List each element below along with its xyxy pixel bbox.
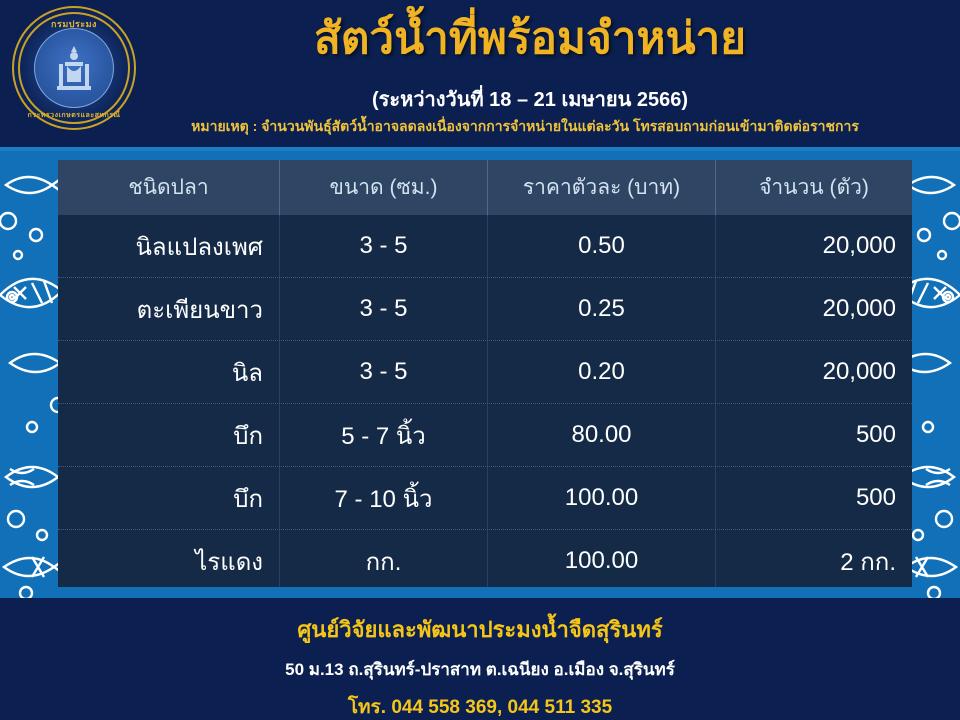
column-header-size: ขนาด (ซม.) (279, 160, 487, 215)
column-header-species: ชนิดปลา (58, 160, 279, 215)
column-header-price: ราคาตัวละ (บาท) (487, 160, 715, 215)
cell-species: นิล (58, 341, 279, 403)
cell-price: 100.00 (487, 467, 715, 529)
footer-organization-name: ศูนย์วิจัยและพัฒนาประมงน้ำจืดสุรินทร์ (0, 612, 960, 647)
cell-species: ไรแดง (58, 530, 279, 587)
cell-size: 7 - 10 นิ้ว (279, 467, 487, 529)
header-band: กรมประมง กระทรวงเกษตรและสหกรณ์ สัตว์น้ำท… (0, 0, 960, 147)
cell-quantity: 20,000 (715, 341, 912, 403)
footer-band: ศูนย์วิจัยและพัฒนาประมงน้ำจืดสุรินทร์ 50… (0, 598, 960, 720)
cell-price: 0.25 (487, 278, 715, 340)
poster-root: กรมประมง กระทรวงเกษตรและสหกรณ์ สัตว์น้ำท… (0, 0, 960, 720)
page-subtitle-date-range: (ระหว่างวันที่ 18 – 21 เมษายน 2566) (140, 83, 920, 115)
table-row: นิลแปลงเพศ 3 - 5 0.50 20,000 (58, 215, 912, 277)
logo-figure-icon (51, 42, 97, 94)
cell-quantity: 500 (715, 467, 912, 529)
cell-price: 0.50 (487, 215, 715, 277)
page-note: หมายเหตุ : จำนวนพันธุ์สัตว์น้ำอาจลดลงเนื… (90, 116, 960, 138)
aquatic-animals-price-table: ชนิดปลา ขนาด (ซม.) ราคาตัวละ (บาท) จำนวน… (58, 160, 912, 587)
cell-quantity: 20,000 (715, 278, 912, 340)
table-row: ไรแดง กก. 100.00 2 กก. (58, 529, 912, 587)
cell-quantity: 500 (715, 404, 912, 466)
column-header-quantity: จำนวน (ตัว) (715, 160, 912, 215)
department-of-fisheries-logo-icon: กรมประมง กระทรวงเกษตรและสหกรณ์ (12, 6, 136, 130)
page-title: สัตว์น้ำที่พร้อมจำหน่าย (140, 16, 920, 62)
table-row: บึก 7 - 10 นิ้ว 100.00 500 (58, 466, 912, 529)
cell-quantity: 20,000 (715, 215, 912, 277)
cell-size: 3 - 5 (279, 215, 487, 277)
cell-price: 100.00 (487, 530, 715, 587)
cell-species: บึก (58, 467, 279, 529)
cell-size: 3 - 5 (279, 278, 487, 340)
cell-size: 5 - 7 นิ้ว (279, 404, 487, 466)
footer-telephone: โทร. 044 558 369, 044 511 335 (0, 692, 960, 720)
cell-species: บึก (58, 404, 279, 466)
cell-price: 0.20 (487, 341, 715, 403)
cell-price: 80.00 (487, 404, 715, 466)
table-row: บึก 5 - 7 นิ้ว 80.00 500 (58, 403, 912, 466)
cell-species: ตะเพียนขาว (58, 278, 279, 340)
footer-address: 50 ม.13 ถ.สุรินทร์-ปราสาท ต.เฉนียง อ.เมื… (0, 656, 960, 683)
table-body: นิลแปลงเพศ 3 - 5 0.50 20,000 ตะเพียนขาว … (58, 215, 912, 587)
cell-species: นิลแปลงเพศ (58, 215, 279, 277)
table-row: นิล 3 - 5 0.20 20,000 (58, 340, 912, 403)
cell-size: กก. (279, 530, 487, 587)
cell-quantity: 2 กก. (715, 530, 912, 587)
cell-size: 3 - 5 (279, 341, 487, 403)
table-header-row: ชนิดปลา ขนาด (ซม.) ราคาตัวละ (บาท) จำนวน… (58, 160, 912, 215)
table-row: ตะเพียนขาว 3 - 5 0.25 20,000 (58, 277, 912, 340)
